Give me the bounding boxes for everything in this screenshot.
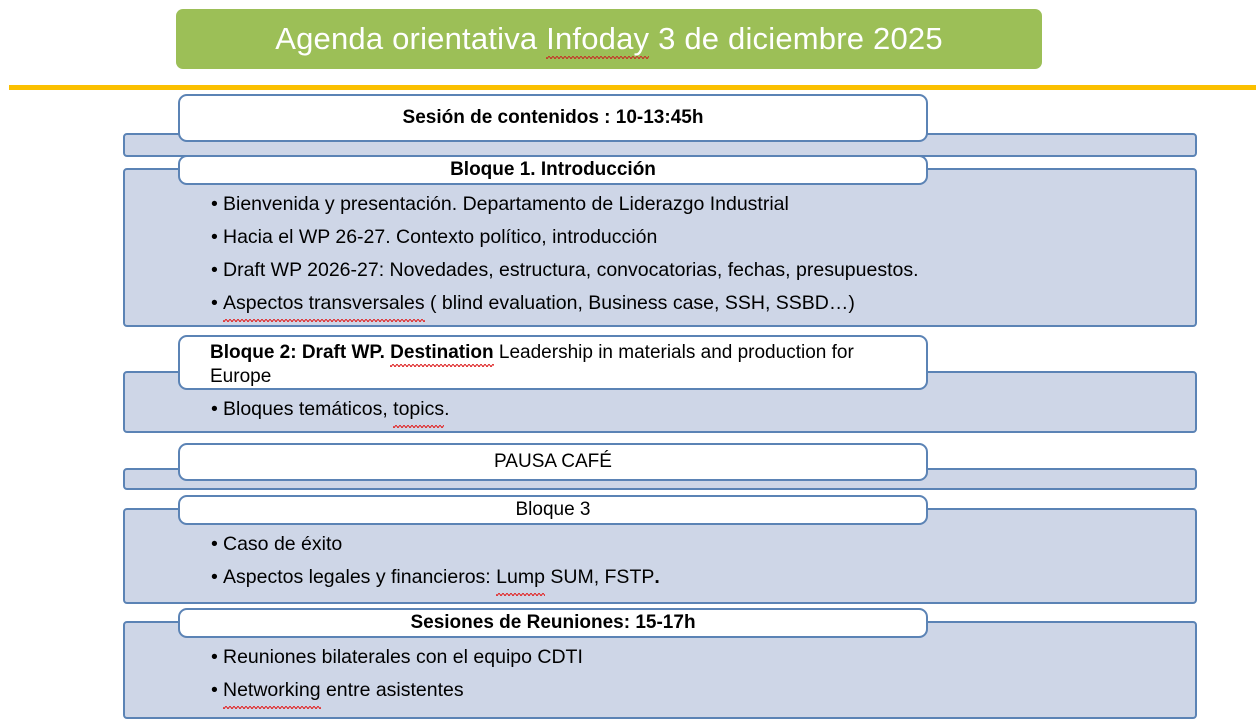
list-item-suffix: SUM, FSTP. <box>545 566 660 588</box>
section-header-label: Sesión de contenidos : 10-13:45h <box>403 106 704 130</box>
section-bullet-list: Reuniones bilaterales con el equipo CDTI… <box>211 641 583 707</box>
section-header-label: Bloque 3 <box>515 498 590 522</box>
list-item: Aspectos transversales ( blind evaluatio… <box>211 287 919 320</box>
misspelled-word: Destination <box>390 341 493 365</box>
misspelled-word: Networking <box>223 674 321 707</box>
section-header-box[interactable]: Sesión de contenidos : 10-13:45h <box>178 94 928 142</box>
list-item-prefix: Aspectos legales y financieros: <box>223 566 496 588</box>
list-item: Reuniones bilaterales con el equipo CDTI <box>211 641 583 674</box>
section-bullet-list: Bienvenida y presentación. Departamento … <box>211 188 919 320</box>
list-item-suffix: . <box>444 398 449 420</box>
misspelled-phrase: Aspectos transversales <box>223 287 425 320</box>
section-header-label: Sesiones de Reuniones: 15-17h <box>410 611 695 635</box>
section-header-box[interactable]: Bloque 1. Introducción <box>178 155 928 185</box>
section-bullet-list: Bloques temáticos, topics. <box>211 393 450 426</box>
section-header-label: Bloque 2: Draft WP. Destination Leadersh… <box>210 341 914 389</box>
misspelled-word: Lump <box>496 561 545 594</box>
list-item: Bienvenida y presentación. Departamento … <box>211 188 919 221</box>
section-header-box[interactable]: Sesiones de Reuniones: 15-17h <box>178 608 928 638</box>
list-item-rest: ( blind evaluation, Business case, SSH, … <box>425 292 855 314</box>
section-header-box[interactable]: Bloque 2: Draft WP. Destination Leadersh… <box>178 335 928 390</box>
section-header-bold-part: Bloque 2: Draft WP. Destination <box>210 342 494 363</box>
section-header-box[interactable]: PAUSA CAFÉ <box>178 443 928 481</box>
list-item-prefix: Bloques temáticos, <box>223 398 393 420</box>
list-item-rest: entre asistentes <box>321 679 464 701</box>
section-header-label: Bloque 1. Introducción <box>450 158 656 182</box>
list-item: Bloques temáticos, topics. <box>211 393 450 426</box>
section-bullet-list: Caso de éxito Aspectos legales y financi… <box>211 528 660 594</box>
list-item: Hacia el WP 26-27. Contexto político, in… <box>211 221 919 254</box>
list-item: Networking entre asistentes <box>211 674 583 707</box>
agenda-sections: Sesión de contenidos : 10-13:45h Bloque … <box>0 0 1258 724</box>
list-item: Caso de éxito <box>211 528 660 561</box>
misspelled-word: topics <box>393 393 444 426</box>
list-item: Draft WP 2026-27: Novedades, estructura,… <box>211 254 919 287</box>
section-header-label: PAUSA CAFÉ <box>494 450 612 474</box>
list-item: Aspectos legales y financieros: Lump SUM… <box>211 561 660 594</box>
section-header-box[interactable]: Bloque 3 <box>178 495 928 525</box>
